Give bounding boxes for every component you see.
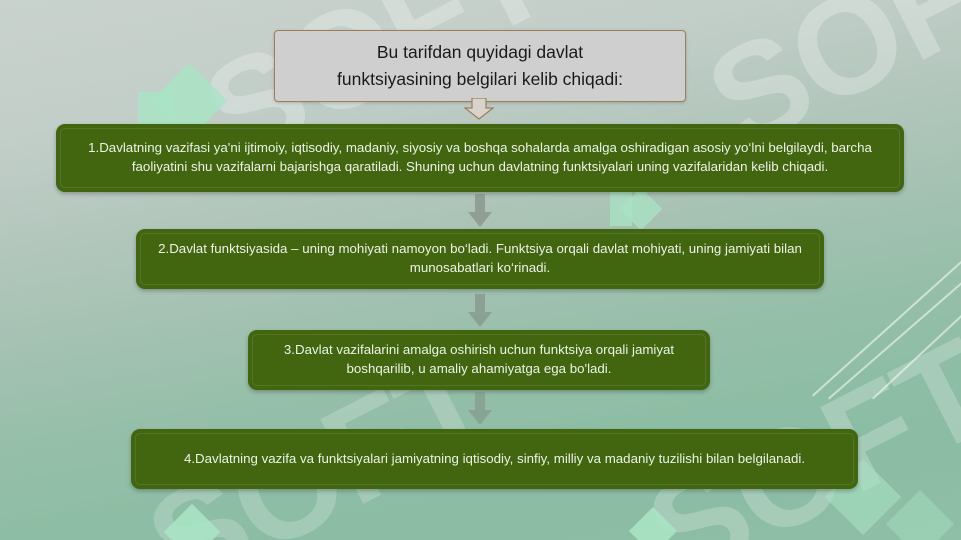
down-arrow-icon xyxy=(467,294,493,328)
step-box-3: 3.Davlat vazifalarini amalga oshirish uc… xyxy=(248,330,710,390)
step-box-4: 4.Davlatning vazifa va funktsiyalari jam… xyxy=(131,429,858,489)
diamond-accent-icon xyxy=(164,504,221,540)
title-line-2: funktsiyasining belgilari kelib chiqadi: xyxy=(337,66,623,93)
diamond-accent-icon xyxy=(629,507,677,540)
title-callout-box: Bu tarifdan quyidagi davlat funktsiyasin… xyxy=(274,30,686,102)
light-streak-decoration xyxy=(828,243,961,399)
step-box-3-text: 3.Davlat vazifalarini amalga oshirish uc… xyxy=(264,341,694,379)
down-arrow-outline-icon xyxy=(464,98,494,120)
down-arrow-icon xyxy=(467,194,493,228)
title-line-1: Bu tarifdan quyidagi davlat xyxy=(377,39,583,66)
light-streak-decoration xyxy=(812,228,961,397)
slide-canvas: SOFT SOFT SOFT SOFT Bu tarifdan quyidagi… xyxy=(0,0,961,540)
diamond-accent-icon xyxy=(886,490,954,540)
step-box-1-text: 1.Davlatning vazifasi ya'ni ijtimoiy, iq… xyxy=(72,139,888,177)
down-arrow-icon xyxy=(467,392,493,426)
step-box-2: 2.Davlat funktsiyasida – uning mohiyati … xyxy=(136,229,824,289)
light-streak-decoration xyxy=(872,252,961,399)
step-box-2-text: 2.Davlat funktsiyasida – uning mohiyati … xyxy=(152,240,808,278)
step-box-1: 1.Davlatning vazifasi ya'ni ijtimoiy, iq… xyxy=(56,124,904,192)
step-box-4-text: 4.Davlatning vazifa va funktsiyalari jam… xyxy=(184,450,805,469)
